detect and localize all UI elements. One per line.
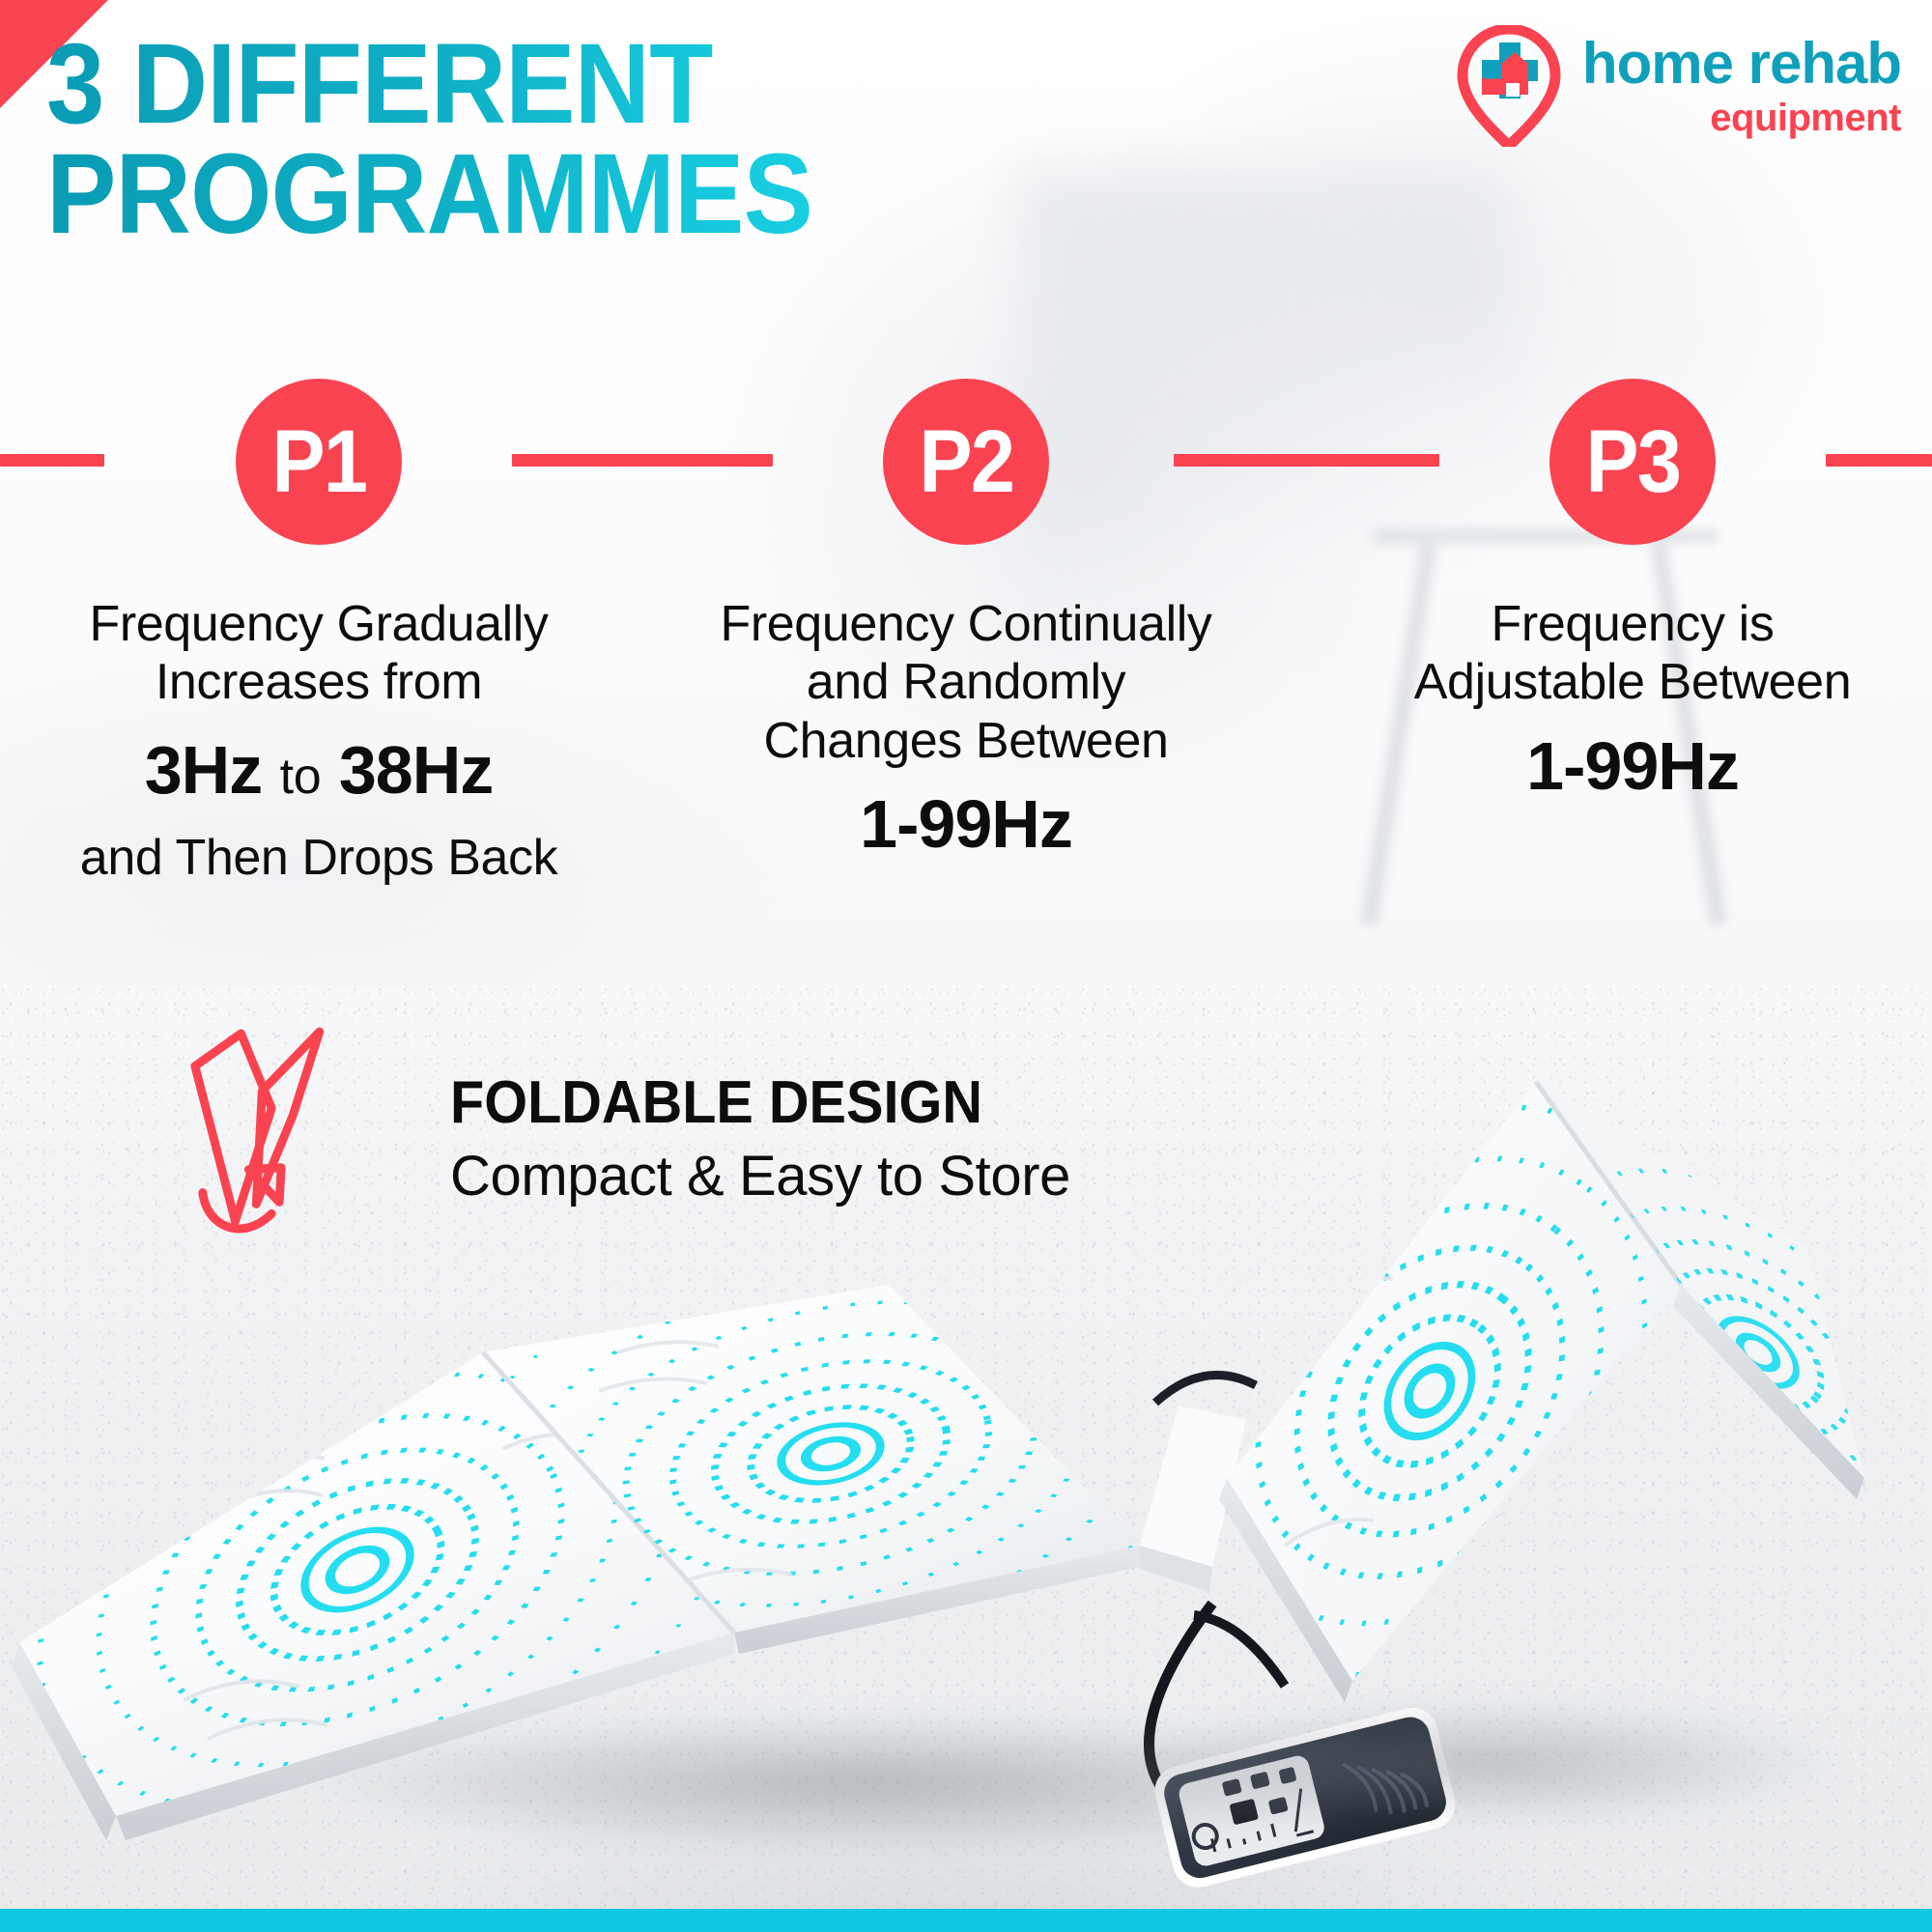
programme-column-p2: Frequency Continually and Randomly Chang… — [667, 595, 1265, 866]
page-title: 3 DIFFERENT PROGRAMMES — [46, 29, 988, 250]
brand-name-primary: home rehab — [1582, 35, 1901, 93]
programme-badge-p3[interactable]: P3 — [1549, 379, 1716, 545]
programme-p1-highlight: 3Hz to 38Hz — [19, 729, 618, 811]
programme-p2-highlight: 1-99Hz — [667, 783, 1265, 866]
programme-p2-line-1: Frequency Continually — [667, 595, 1265, 653]
headline-line-2: PROGRAMMES — [46, 139, 988, 249]
programme-badge-p1-label: P1 — [271, 417, 366, 506]
programme-p3-line-2: Adjustable Between — [1333, 653, 1932, 711]
programme-p1-line-3: and Then Drops Back — [19, 829, 618, 887]
programme-badge-p1[interactable]: P1 — [236, 379, 402, 545]
programme-p3-highlight: 1-99Hz — [1333, 725, 1932, 808]
programme-p1-freq-low: 3Hz — [145, 732, 262, 808]
brand-logo-wordmark: home rehab equipment — [1582, 35, 1901, 137]
product-image — [0, 966, 1932, 1932]
map-pin-medical-cross-house-icon — [1455, 25, 1563, 147]
programme-badge-p3-label: P3 — [1585, 417, 1680, 506]
connector-line-p2-p3 — [1174, 454, 1439, 467]
programme-p3-line-1: Frequency is — [1333, 595, 1932, 653]
programme-p1-line-1: Frequency Gradually — [19, 595, 618, 653]
connector-line-right-edge — [1826, 454, 1932, 467]
programme-p1-freq-join: to — [280, 749, 322, 805]
brand-logo[interactable]: home rehab equipment — [1455, 25, 1901, 147]
programme-p2-line-2: and Randomly — [667, 653, 1265, 711]
programme-column-p1: Frequency Gradually Increases from 3Hz t… — [19, 595, 618, 887]
programme-badge-row: P1 P2 P3 — [0, 379, 1932, 553]
power-cable-loop — [1194, 1615, 1285, 1686]
programme-p2-line-3: Changes Between — [667, 712, 1265, 770]
brand-name-secondary: equipment — [1710, 99, 1901, 137]
connector-line-left-edge — [0, 454, 104, 467]
infographic-page: 3 DIFFERENT PROGRAMMES home rehab equipm… — [0, 0, 1932, 1932]
programme-column-p3: Frequency is Adjustable Between 1-99Hz — [1333, 595, 1932, 808]
programme-p1-line-2: Increases from — [19, 653, 618, 711]
connector-line-p1-p2 — [512, 454, 773, 467]
programme-badge-p2-label: P2 — [919, 417, 1013, 506]
bottom-accent-bar — [0, 1909, 1932, 1932]
programme-p1-freq-high: 38Hz — [339, 732, 493, 808]
product-shadow-right — [1140, 1700, 1835, 1826]
headline-line-1: 3 DIFFERENT — [46, 20, 713, 148]
programme-badge-p2[interactable]: P2 — [883, 379, 1049, 545]
